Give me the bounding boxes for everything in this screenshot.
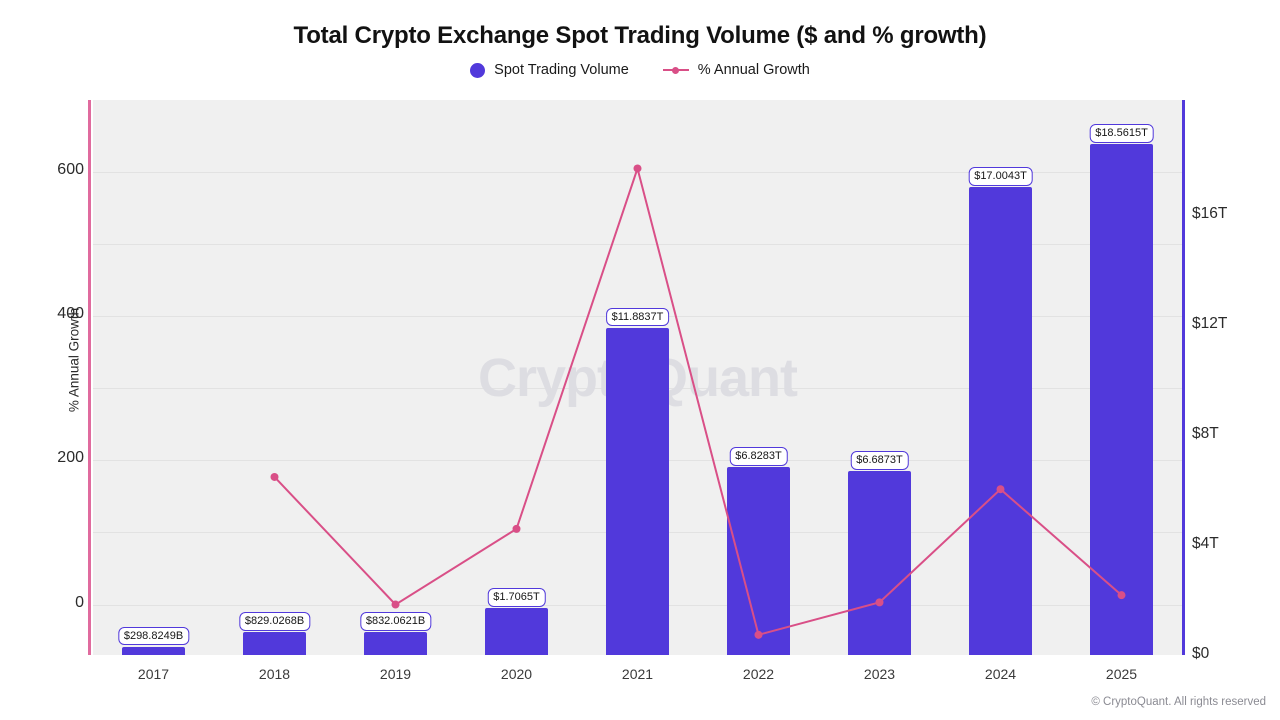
- bar[interactable]: [122, 647, 185, 655]
- bar-value-label: $298.8249B: [118, 627, 189, 646]
- x-axis-label: 2024: [985, 666, 1016, 682]
- chart-container: Total Crypto Exchange Spot Trading Volum…: [0, 0, 1280, 720]
- right-axis-tick-label: $0: [1192, 645, 1209, 663]
- left-axis-title: % Annual Growth: [67, 308, 82, 412]
- x-axis-label: 2022: [743, 666, 774, 682]
- bar-value-label: $18.5615T: [1089, 124, 1154, 143]
- bar[interactable]: [243, 632, 306, 655]
- right-axis-tick-label: $8T: [1192, 425, 1219, 443]
- footer-credit: © CryptoQuant. All rights reserved: [1091, 696, 1266, 708]
- bar-value-label: $829.0268B: [239, 612, 310, 631]
- legend-item-spot-trading-volume[interactable]: Spot Trading Volume: [470, 62, 629, 78]
- bar[interactable]: [606, 328, 669, 655]
- x-axis-label: 2019: [380, 666, 411, 682]
- bar[interactable]: [969, 187, 1032, 655]
- x-axis-label: 2025: [1106, 666, 1137, 682]
- x-axis-label: 2017: [138, 666, 169, 682]
- left-axis-tick-label: 200: [57, 449, 84, 467]
- left-axis-line: [88, 100, 91, 655]
- x-axis-label: 2018: [259, 666, 290, 682]
- x-axis-label: 2023: [864, 666, 895, 682]
- chart-legend: Spot Trading Volume % Annual Growth: [0, 62, 1280, 78]
- bar[interactable]: [485, 608, 548, 655]
- bar-value-label: $6.6873T: [850, 451, 908, 470]
- x-axis-label: 2021: [622, 666, 653, 682]
- legend-label-annual-growth: % Annual Growth: [698, 62, 810, 78]
- right-axis-line: [1182, 100, 1185, 655]
- bar[interactable]: [1090, 144, 1153, 655]
- bar-value-label: $11.8837T: [606, 308, 670, 327]
- legend-line-marker-icon: [663, 69, 689, 71]
- bar[interactable]: [848, 471, 911, 655]
- right-axis-tick-label: $4T: [1192, 535, 1219, 553]
- bar[interactable]: [727, 467, 790, 655]
- right-axis-tick-label: $12T: [1192, 315, 1227, 333]
- bar[interactable]: [364, 632, 427, 655]
- left-axis-tick-label: 600: [57, 161, 84, 179]
- right-axis-tick-label: $16T: [1192, 205, 1227, 223]
- legend-item-annual-growth[interactable]: % Annual Growth: [663, 62, 810, 78]
- bar-value-label: $1.7065T: [487, 588, 545, 607]
- chart-title: Total Crypto Exchange Spot Trading Volum…: [0, 22, 1280, 50]
- bar-value-label: $6.8283T: [729, 447, 787, 466]
- legend-circle-marker-icon: [470, 63, 485, 78]
- bar-value-label: $832.0621B: [360, 612, 431, 631]
- legend-label-spot-trading-volume: Spot Trading Volume: [494, 62, 629, 78]
- left-axis-tick-label: 0: [75, 594, 84, 612]
- bar-value-label: $17.0043T: [968, 167, 1033, 186]
- x-axis-label: 2020: [501, 666, 532, 682]
- left-axis-tick-label: 400: [57, 305, 84, 323]
